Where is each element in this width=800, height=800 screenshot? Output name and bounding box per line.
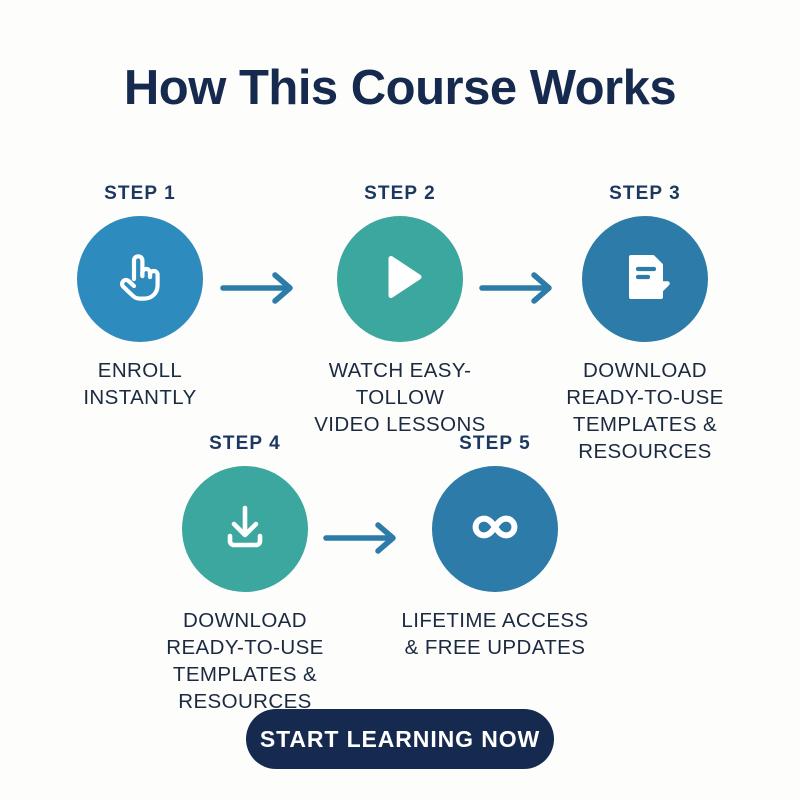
step-item-1: STEP 1 ENROLL INSTANTLY xyxy=(35,183,245,411)
play-icon xyxy=(368,245,432,314)
step-caption-5: LIFETIME ACCESS & FREE UPDATES xyxy=(375,607,615,661)
document-download-icon xyxy=(613,245,677,314)
step-caption-1: ENROLL INSTANTLY xyxy=(35,357,245,411)
step-label-3: STEP 3 xyxy=(540,183,750,205)
step-item-4: STEP 4 DOWNLOAD READY-TO-USE TEMPLATES &… xyxy=(140,433,350,715)
step-item-5: STEP 5 LIFETIME ACCESS & FREE UPDATES xyxy=(390,433,600,661)
step-circle-4 xyxy=(182,466,308,592)
arrow-step1-to-step2 xyxy=(219,271,305,305)
download-tray-icon xyxy=(213,495,277,564)
step-label-1: STEP 1 xyxy=(35,183,245,205)
step-circle-3 xyxy=(582,216,708,342)
infinity-icon xyxy=(463,495,527,564)
page-title: How This Course Works xyxy=(0,62,800,116)
step-circle-1 xyxy=(77,216,203,342)
step-label-4: STEP 4 xyxy=(140,433,350,455)
step-label-5: STEP 5 xyxy=(390,433,600,455)
step-caption-4: DOWNLOAD READY-TO-USE TEMPLATES & RESOUR… xyxy=(111,607,379,715)
step-item-3: STEP 3 DOWNLOAD READY-TO-USE TEMPLATES &… xyxy=(540,183,750,465)
step-label-2: STEP 2 xyxy=(295,183,505,205)
start-learning-button[interactable]: START LEARNING NOW xyxy=(246,709,554,769)
infographic-canvas: How This Course Works STEP 1 ENROLL INST… xyxy=(0,0,800,800)
step-item-2: STEP 2 WATCH EASY-TOLLOW VIDEO LESSONS xyxy=(295,183,505,438)
step-circle-2 xyxy=(337,216,463,342)
step-circle-5 xyxy=(432,466,558,592)
step-caption-2: WATCH EASY-TOLLOW VIDEO LESSONS xyxy=(295,357,505,438)
pointing-hand-icon xyxy=(108,245,172,314)
